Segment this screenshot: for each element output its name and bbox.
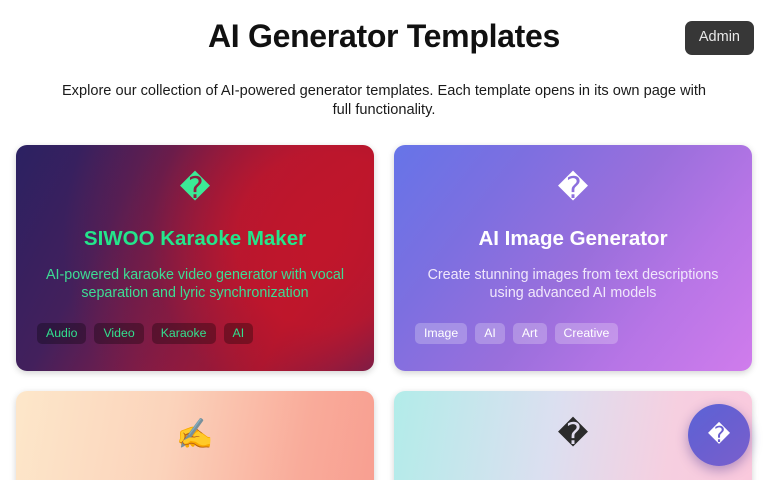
chat-bubble-icon: � <box>708 424 731 446</box>
page-header: AI Generator Templates Admin Explore our… <box>0 0 768 119</box>
card-description: AI-powered karaoke video generator with … <box>45 266 345 303</box>
card-tag[interactable]: Art <box>513 323 547 344</box>
template-card-grid: � SIWOO Karaoke Maker AI-powered karaoke… <box>0 145 768 480</box>
card-description: Create stunning images from text descrip… <box>423 266 723 303</box>
card-tag[interactable]: Video <box>94 323 143 344</box>
admin-button[interactable]: Admin <box>685 21 754 55</box>
card-title: AI Image Generator <box>478 227 667 252</box>
card-tag[interactable]: AI <box>475 323 505 344</box>
card-title: SIWOO Karaoke Maker <box>84 227 306 252</box>
video-camera-icon: � <box>558 417 589 453</box>
card-tag[interactable]: Audio <box>37 323 86 344</box>
card-tag[interactable]: AI <box>224 323 254 344</box>
card-tag-list: Audio Video Karaoke AI <box>34 323 253 344</box>
template-card-writer[interactable]: ✍ <box>16 391 374 480</box>
card-tag[interactable]: Image <box>415 323 467 344</box>
card-tag[interactable]: Creative <box>555 323 619 344</box>
card-tag[interactable]: Karaoke <box>152 323 216 344</box>
card-tag-list: Image AI Art Creative <box>412 323 618 344</box>
template-card-image-generator[interactable]: � AI Image Generator Create stunning ima… <box>394 145 752 371</box>
picture-frame-icon: � <box>558 171 589 207</box>
page-subtitle: Explore our collection of AI-powered gen… <box>54 82 714 119</box>
app-root: AI Generator Templates Admin Explore our… <box>0 0 768 480</box>
floating-action-button[interactable]: � <box>688 404 750 466</box>
writing-hand-icon: ✍ <box>176 417 213 453</box>
template-card-karaoke[interactable]: � SIWOO Karaoke Maker AI-powered karaoke… <box>16 145 374 371</box>
microphone-icon: � <box>180 171 211 207</box>
page-title: AI Generator Templates <box>0 16 768 56</box>
